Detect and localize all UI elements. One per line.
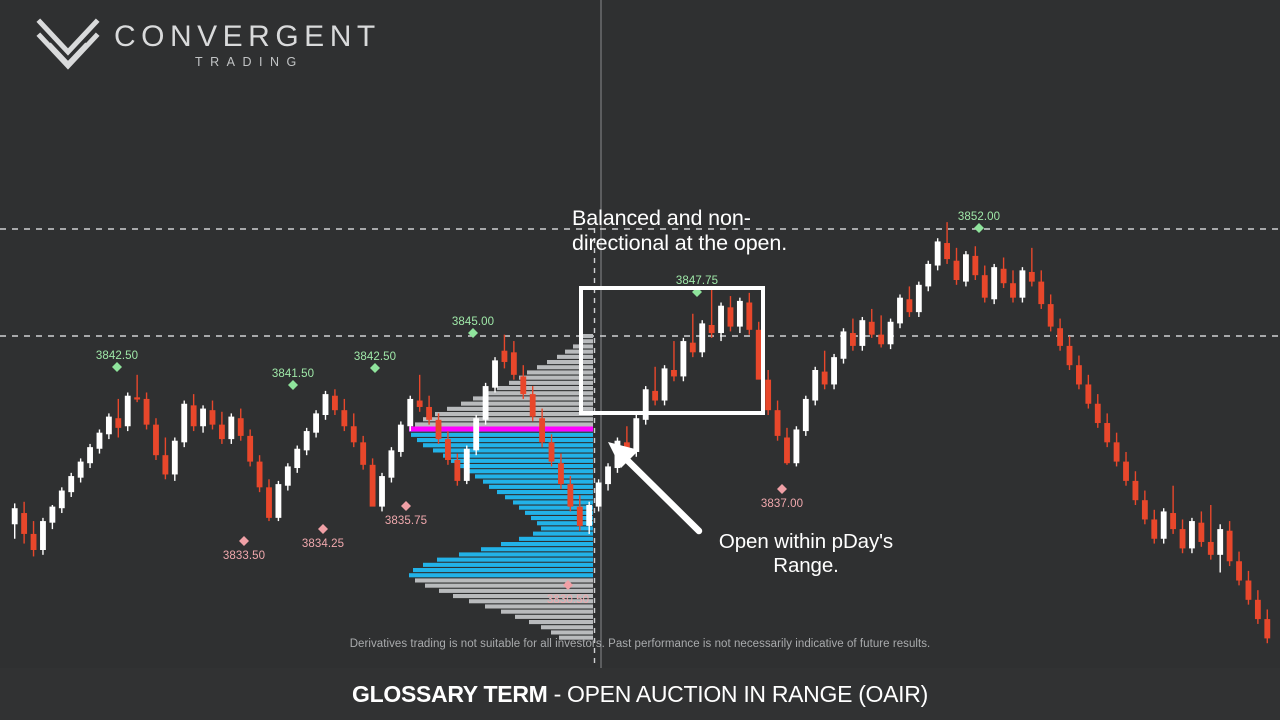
- brand-name: CONVERGENT: [114, 21, 381, 53]
- price-label: 3834.25: [302, 538, 344, 550]
- annotation-balanced: Balanced and non-directional at the open…: [572, 206, 834, 257]
- brand-logo: CONVERGENT TRADING: [36, 14, 381, 76]
- screenshot-root: CONVERGENT TRADING 3842.503841.503842.5: [0, 0, 1280, 720]
- glossary-banner: GLOSSARY TERM - OPEN AUCTION IN RANGE (O…: [0, 668, 1280, 720]
- brand-wordmark: CONVERGENT TRADING: [114, 21, 381, 70]
- glossary-definition: OPEN AUCTION IN RANGE (OAIR): [567, 681, 928, 707]
- annotation-open-range: Open within pDay's Range.: [694, 530, 918, 578]
- price-label: 3837.00: [761, 498, 803, 510]
- price-label: 3842.50: [354, 351, 396, 363]
- glossary-term-label: GLOSSARY TERM: [352, 681, 547, 707]
- glossary-separator: -: [547, 681, 567, 707]
- price-label: 3833.50: [223, 550, 265, 562]
- price-label: 3830.50: [547, 594, 589, 606]
- chevron-logo-icon: [36, 14, 100, 76]
- brand-tagline: TRADING: [114, 55, 381, 69]
- price-chart[interactable]: [0, 0, 1280, 668]
- price-label: 3842.50: [96, 350, 138, 362]
- price-label: 3845.00: [452, 316, 494, 328]
- disclaimer-text: Derivatives trading is not suitable for …: [0, 638, 1280, 650]
- price-label: 3835.75: [385, 515, 427, 527]
- glossary-banner-text: GLOSSARY TERM - OPEN AUCTION IN RANGE (O…: [352, 681, 928, 708]
- price-label: 3852.00: [958, 211, 1000, 223]
- price-label: 3841.50: [272, 368, 314, 380]
- chart-background: [0, 0, 1280, 668]
- price-label: 3847.75: [676, 275, 718, 287]
